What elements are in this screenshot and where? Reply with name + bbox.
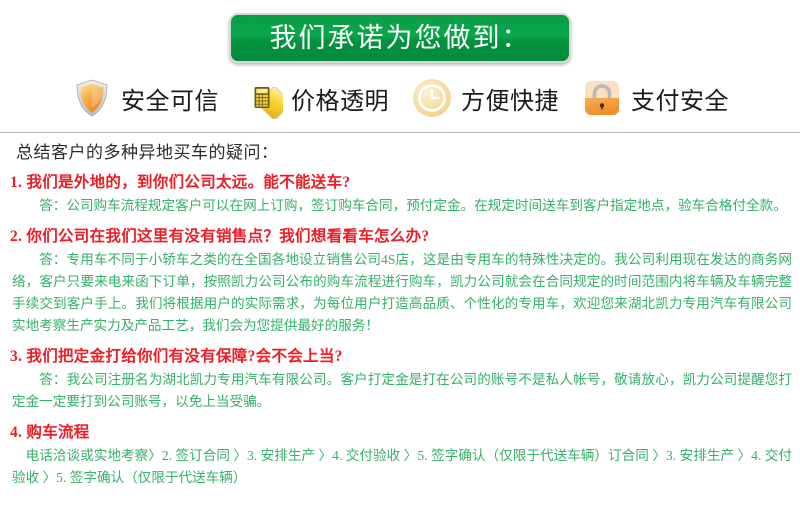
section-title: 总结客户的多种异地买车的疑问： (16, 138, 794, 163)
feature-item-payment: 支付安全 (581, 77, 729, 119)
lock-icon (581, 77, 623, 119)
feature-item-price: 价格透明 (241, 77, 389, 119)
promise-banner-text: 我们承诺为您做到： (270, 25, 531, 52)
page-root: 我们承诺为您做到： (0, 0, 800, 505)
faq-question-2: 2. 你们公司在我们这里有没有销售点？我们想看看车怎么办? (10, 224, 794, 246)
promise-banner-container: 我们承诺为您做到： (0, 12, 800, 64)
faq-content: 总结客户的多种异地买车的疑问： 1. 我们是外地的，到你们公司太远。能不能送车?… (0, 136, 800, 489)
promise-banner: 我们承诺为您做到： (229, 13, 571, 63)
feature-item-convenience: 方便快捷 (411, 77, 559, 119)
clock-icon (411, 77, 453, 119)
faq-answer-3: 答：我公司注册名为湖北凯力专用汽车有限公司。客户打定金是打在公司的账号不是私人帐… (12, 369, 792, 413)
faq-answer-2: 答：专用车不同于小轿车之类的在全国各地设立销售公司4S店，这是由专用车的特殊性决… (12, 249, 792, 337)
faq-answer-1: 答：公司购车流程规定客户可以在网上订购，签订购车合同，预付定金。在规定时间送车到… (12, 195, 792, 217)
feature-label-price: 价格透明 (291, 81, 389, 116)
feature-row: 安全可信 (0, 70, 800, 126)
feature-label-security: 安全可信 (121, 81, 219, 116)
shield-icon (71, 77, 113, 119)
faq-question-1: 1. 我们是外地的，到你们公司太远。能不能送车? (10, 170, 794, 192)
horizontal-divider (0, 132, 800, 133)
feature-item-security: 安全可信 (71, 77, 219, 119)
faq-question-3: 3. 我们把定金打给你们有没有保障?会不会上当? (10, 344, 794, 366)
feature-label-convenience: 方便快捷 (461, 81, 559, 116)
calculator-icon (241, 77, 283, 119)
purchase-flow-steps: 电话洽谈或实地考察〉2. 签订合同 〉3. 安排生产 〉4. 交付验收 〉5. … (12, 445, 792, 489)
feature-label-payment: 支付安全 (631, 81, 729, 116)
purchase-flow-title: 4. 购车流程 (10, 420, 794, 442)
